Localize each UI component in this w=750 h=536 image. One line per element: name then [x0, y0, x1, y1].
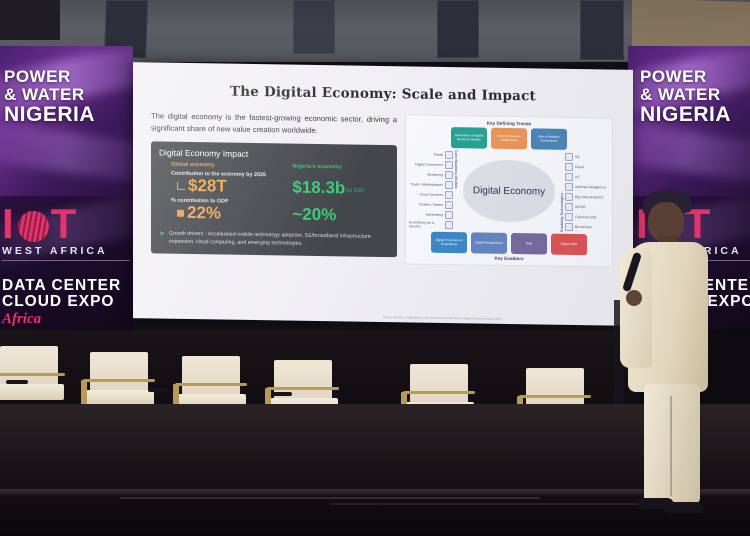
enabler-box: Data	[511, 233, 547, 255]
item-icon	[565, 193, 573, 201]
diagram-core: Digital Economy	[459, 150, 559, 232]
card-heading: Digital Economy Impact	[159, 147, 389, 161]
nigeria-gdp-value: ~20%	[292, 206, 389, 226]
enabler-box: Digital Skills	[551, 234, 587, 256]
nigeria-economy-label: Nigeria's economy	[292, 163, 389, 171]
list-item: AR/VR	[565, 202, 609, 213]
digital-economy-diagram: Key Defining Trends Dominance of Digital…	[405, 114, 613, 267]
list-item: Artificial Intelligence	[565, 182, 609, 193]
diagram-center-label: Digital Economy	[473, 185, 545, 197]
enabler-box: Digital Infrastructure	[471, 232, 507, 254]
digital-economy-impact-card: Digital Economy Impact Global economy Co…	[151, 141, 397, 257]
item-icon	[565, 163, 573, 171]
item-icon	[565, 203, 573, 211]
iot-west-africa-logo: IT WEST AFRICA	[2, 206, 133, 261]
item-icon	[445, 221, 453, 229]
item-icon	[445, 181, 453, 189]
slide-lead-paragraph: The digital economy is the fastest-growi…	[151, 110, 397, 137]
slide-left-column: The digital economy is the fastest-growi…	[151, 110, 397, 264]
global-contribution-value: $28T	[177, 176, 292, 196]
microphone	[148, 388, 168, 392]
logo-line-nigeria: NIGERIA	[4, 104, 133, 126]
list-item: Cloud	[565, 162, 609, 173]
diagram-bottom-boxes: Digital Processes & Regulations Digital …	[409, 231, 609, 255]
list-item: Everything-as-a-Service	[409, 219, 453, 230]
data-center-cloud-expo-logo: DATA CENTER CLOUD EXPO Africa	[2, 278, 133, 327]
chair-arm-rail	[403, 391, 475, 394]
global-gdp-value: 22%	[177, 204, 292, 224]
list-item: IoT	[565, 172, 609, 183]
ceiling-panel	[293, 0, 335, 54]
list-item: 5G	[565, 152, 609, 163]
diagram-right-items: 5G Cloud IoT Artificial Intelligence Big…	[565, 152, 609, 233]
list-item: Cloud Services	[409, 189, 453, 200]
logo-line-nigeria: NIGERIA	[640, 104, 750, 126]
logo-line-power: POWER	[640, 68, 750, 86]
diagram-left-items: Retail Digital Commerce Streaming Trade …	[409, 149, 453, 230]
list-item: Trade / Marketplaces	[409, 179, 453, 190]
list-item: Cybersecurity	[565, 212, 609, 223]
trend-box: Core Services as Experiences	[491, 128, 527, 150]
list-item: Blockchain	[565, 222, 609, 233]
ceiling-dark-corner	[0, 0, 60, 40]
list-item: Big Data Analytics	[565, 192, 609, 203]
list-item: Digital Commerce	[409, 159, 453, 170]
item-icon	[565, 153, 573, 161]
item-icon	[565, 213, 573, 221]
nigeria-contribution-value: $18.3bQ1 2025	[292, 178, 389, 198]
nigeria-value-suffix: Q1 2025	[346, 187, 370, 192]
chair-seat	[0, 384, 64, 400]
item-icon	[445, 161, 453, 169]
rocket-icon: ➤	[159, 229, 165, 246]
item-icon	[445, 171, 453, 179]
list-item: Retail	[409, 149, 453, 160]
chair-arm-rail	[267, 387, 339, 390]
list-item: Advertising	[409, 209, 453, 220]
chair-arm-rail	[175, 383, 247, 386]
iot-subtitle: WEST AFRICA	[2, 245, 133, 257]
enabler-box: Digital Processes & Regulations	[431, 232, 467, 254]
item-icon	[565, 173, 573, 181]
diagram-right-vertical-label: Enabling Technologies	[559, 152, 565, 232]
iot-wordmark: IT	[2, 206, 133, 242]
item-icon	[445, 211, 453, 219]
list-item: Fintech / Banks	[409, 199, 453, 210]
speaker-hand	[626, 290, 642, 306]
item-icon	[445, 151, 453, 159]
projection-screen: The Digital Economy: Scale and Impact Th…	[133, 62, 633, 326]
microphone	[272, 392, 292, 396]
logo-line-cloud-expo: CLOUD EXPO	[2, 294, 133, 310]
microphone	[6, 380, 28, 384]
logo-line-data-center: DATA CENTER	[2, 278, 133, 294]
trouser-seam	[670, 396, 672, 496]
ceiling-panel	[580, 0, 624, 60]
global-economy-label: Global economy	[171, 161, 292, 169]
power-water-nigeria-logo: POWER & WATER NIGERIA	[640, 68, 750, 126]
logo-line-water: & WATER	[640, 86, 750, 104]
speaker-trousers	[644, 384, 700, 504]
logo-line-power: POWER	[4, 68, 133, 86]
chair-arm-rail	[519, 395, 591, 398]
banner-light-streak	[628, 119, 750, 186]
chair-arm-rail	[83, 379, 155, 382]
backdrop-banner-left: POWER & WATER NIGERIA IT WEST AFRICA DAT…	[0, 46, 133, 346]
item-icon	[565, 183, 573, 191]
briefcase-icon	[177, 210, 184, 217]
speaker-person	[622, 186, 728, 536]
divider	[2, 260, 130, 261]
chair-arm-rail	[0, 373, 65, 376]
logo-line-africa: Africa	[2, 312, 133, 328]
growth-drivers-text: Growth drivers - Accelerated mobile tech…	[169, 230, 389, 250]
trend-box: Rise of Industry Ecosystems	[531, 128, 567, 150]
item-icon	[445, 201, 453, 209]
diagram-bottom-label: Key Enablers	[409, 254, 609, 262]
speaker-shoe	[664, 502, 704, 513]
power-water-nigeria-logo: POWER & WATER NIGERIA	[4, 68, 133, 126]
slide-title: The Digital Economy: Scale and Impact	[143, 82, 623, 106]
chart-icon	[177, 181, 185, 189]
item-icon	[565, 223, 573, 231]
logo-line-water: & WATER	[4, 86, 133, 104]
banner-light-streak	[0, 117, 133, 186]
item-icon	[445, 191, 453, 199]
ceiling-panel	[437, 0, 479, 58]
conference-stage-photo: POWER & WATER NIGERIA IT WEST AFRICA DAT…	[0, 0, 750, 536]
diagram-top-boxes: Dominance of Digital Business Models Cor…	[409, 126, 609, 150]
trend-box: Dominance of Digital Business Models	[451, 127, 487, 149]
list-item: Streaming	[409, 169, 453, 180]
iot-globe-icon	[18, 211, 49, 242]
chair-arm	[81, 380, 85, 406]
stage-cable	[120, 497, 540, 499]
growth-drivers-row: ➤ Growth drivers - Accelerated mobile te…	[159, 229, 389, 250]
slide-source-citation: Source: Analysis of Digitalisation and I…	[383, 315, 501, 321]
